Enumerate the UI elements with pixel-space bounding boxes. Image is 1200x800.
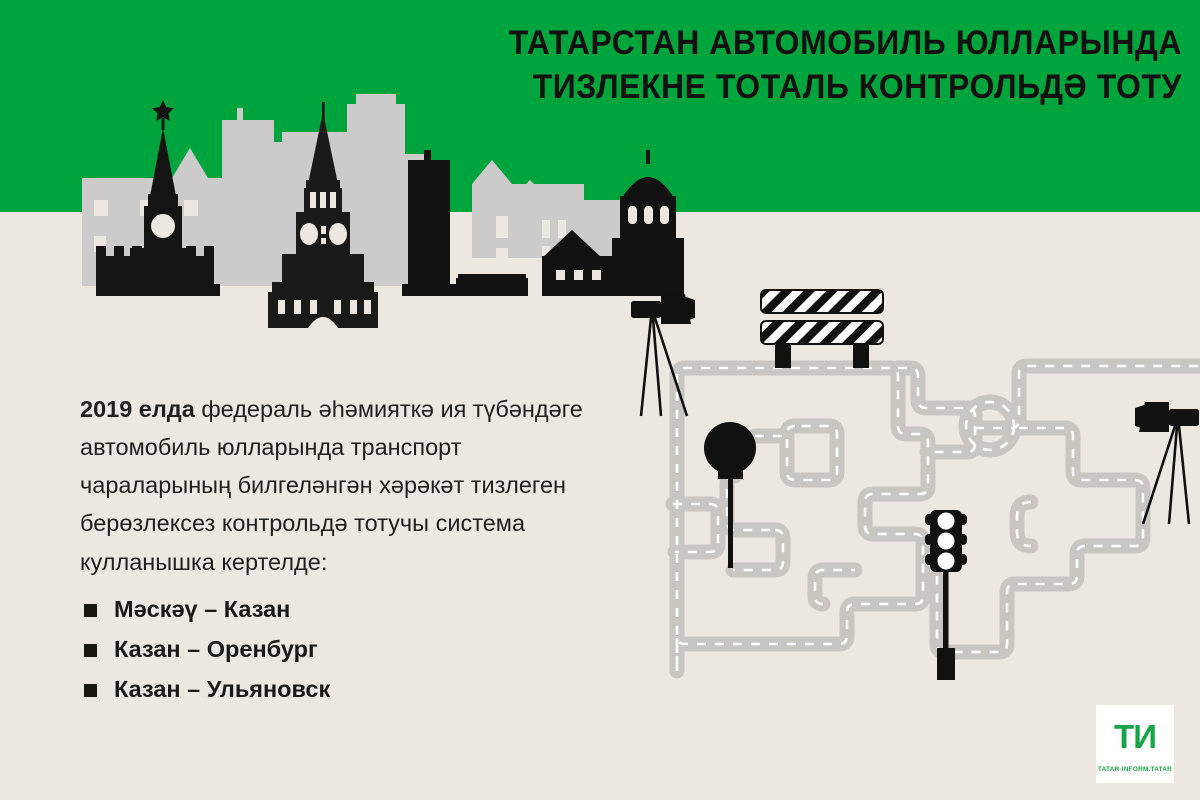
speed-camera-left-icon [631,294,695,416]
body-rest: федераль әһәмияткә ия түбәндәге автомоби… [80,396,583,575]
road-barrier-icon [761,290,883,368]
road-network-illustration [615,276,1200,686]
route-label: Казан – Ульяновск [114,676,330,703]
bullet-square-icon [84,644,97,657]
route-label: Мәскәү – Казан [114,596,290,623]
route-label: Казан – Оренбург [114,636,318,663]
body-lead-year: 2019 елда [80,396,195,422]
logo-url-text: TATAR-INFORM.TATAR [1098,766,1172,773]
tatar-inform-logo: ТИ TATAR-INFORM.TATAR [1096,705,1174,783]
body-paragraph: 2019 елда федераль әһәмияткә ия түбәндәг… [80,390,610,581]
infographic-poster: ТАТАРСТАН АВТОМОБИЛЬ ЮЛЛАРЫНДА ТИЗЛЕКНЕ … [0,0,1200,800]
route-list: Мәскәү – Казан Казан – Оренбург Казан – … [84,596,544,716]
list-item: Казан – Ульяновск [84,676,544,703]
bullet-square-icon [84,684,97,697]
list-item: Казан – Оренбург [84,636,544,663]
bullet-square-icon [84,604,97,617]
page-title-line-1: ТАТАРСТАН АВТОМОБИЛЬ ЮЛЛАРЫНДА [439,22,1182,66]
list-item: Мәскәү – Казан [84,596,544,623]
logo-mark-text: ТИ [1114,720,1156,753]
